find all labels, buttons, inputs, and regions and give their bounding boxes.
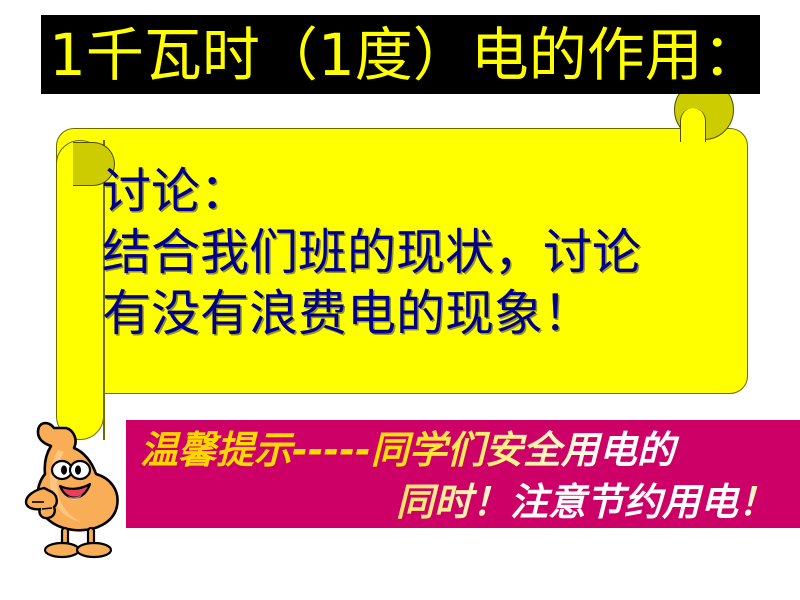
tip-banner-line-1: 温馨提示-----同学们安全用电的	[140, 424, 792, 476]
scroll-panel: 讨论： 结合我们班的现状，讨论 有没有浪费电的现象！	[56, 128, 748, 394]
slide-title-bar: 1千瓦时（1度）电的作用：	[41, 15, 760, 94]
scroll-body-text: 讨论： 结合我们班的现状，讨论 有没有浪费电的现象！	[102, 162, 732, 344]
mascot-character-icon	[18, 410, 138, 560]
page-title: 1千瓦时（1度）电的作用：	[49, 26, 761, 84]
scroll-curl-top-right-notch	[680, 108, 706, 142]
tip-banner: 温馨提示-----同学们安全用电的 同时！注意节约用电！	[126, 420, 800, 528]
tip-banner-line-2: 同时！注意节约用电！	[140, 476, 792, 528]
